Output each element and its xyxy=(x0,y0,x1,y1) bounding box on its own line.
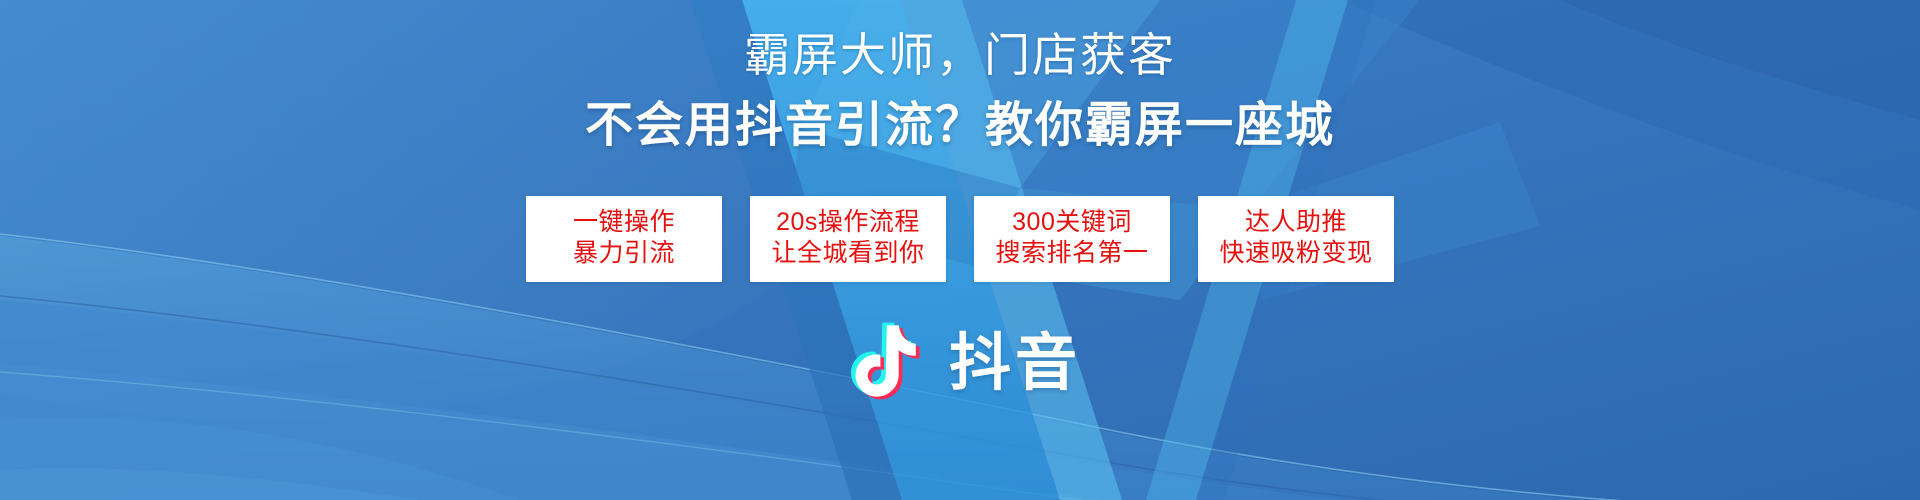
promo-banner: 霸屏大师，门店获客 不会用抖音引流？教你霸屏一座城 一键操作 暴力引流 20s操… xyxy=(0,0,1920,500)
feature-line-1: 20s操作流程 xyxy=(776,207,920,238)
feature-box-20s-flow[interactable]: 20s操作流程 让全城看到你 xyxy=(750,196,946,282)
feature-line-2: 让全城看到你 xyxy=(771,238,924,269)
feature-box-influencer-boost[interactable]: 达人助推 快速吸粉变现 xyxy=(1198,196,1394,282)
feature-line-1: 300关键词 xyxy=(1012,207,1132,238)
feature-line-2: 暴力引流 xyxy=(573,238,675,269)
feature-line-1: 一键操作 xyxy=(573,207,675,238)
headline-primary: 霸屏大师，门店获客 xyxy=(0,26,1920,84)
brand-name: 抖音 xyxy=(949,333,1081,395)
feature-line-2: 搜索排名第一 xyxy=(995,238,1148,269)
brand-lockup: 抖音 xyxy=(0,318,1920,410)
banner-content: 霸屏大师，门店获客 不会用抖音引流？教你霸屏一座城 一键操作 暴力引流 20s操… xyxy=(0,0,1920,500)
feature-box-row: 一键操作 暴力引流 20s操作流程 让全城看到你 300关键词 搜索排名第一 达… xyxy=(0,196,1920,282)
headline-secondary: 不会用抖音引流？教你霸屏一座城 xyxy=(0,96,1920,156)
douyin-music-note-icon xyxy=(839,318,931,410)
feature-line-2: 快速吸粉变现 xyxy=(1219,238,1372,269)
feature-box-one-click[interactable]: 一键操作 暴力引流 xyxy=(526,196,722,282)
feature-box-300-keywords[interactable]: 300关键词 搜索排名第一 xyxy=(974,196,1170,282)
feature-line-1: 达人助推 xyxy=(1245,207,1347,238)
